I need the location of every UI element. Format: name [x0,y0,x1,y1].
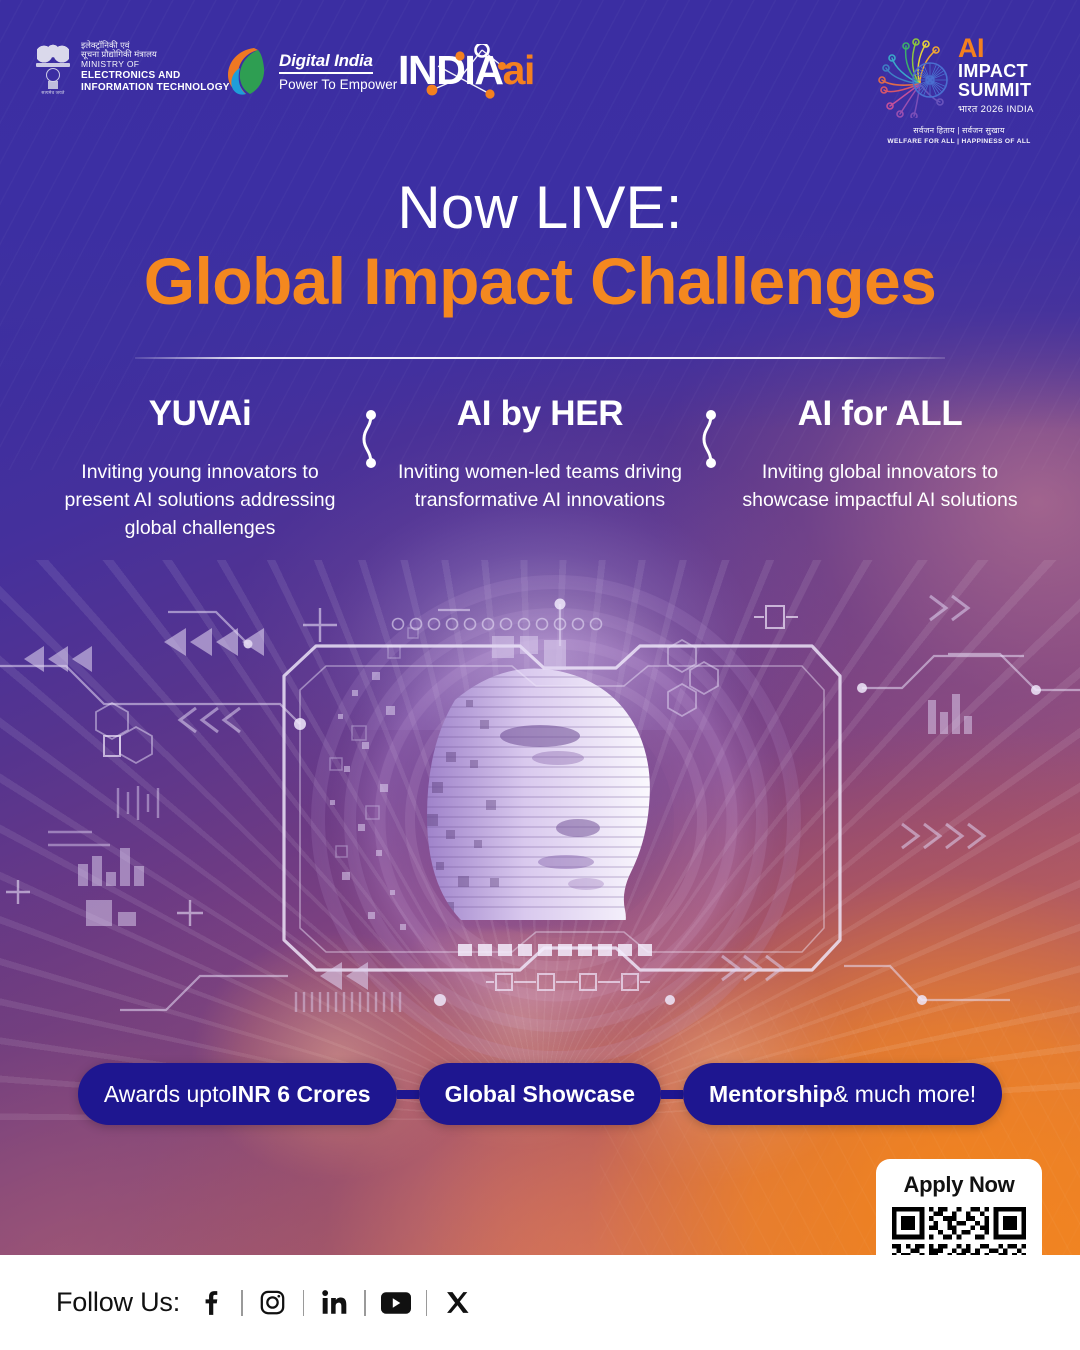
follow-us-label: Follow Us: [56,1287,180,1318]
challenges-row: YUVAi Inviting young innovators to prese… [0,395,1080,542]
meity-logo: सत्यमेव जयते इलेक्ट्रॉनिकी एवं सूचना प्र… [34,36,230,98]
header-logo-bar: सत्यमेव जयते इलेक्ट्रॉनिकी एवं सूचना प्र… [0,0,1080,170]
pill-mentorship: Mentorship & much more! [683,1063,1002,1125]
challenge-description: Inviting global innovators to showcase i… [736,458,1024,515]
challenge-column-ai-by-her: AI by HER Inviting women-led teams drivi… [390,395,690,514]
pill-strong: Mentorship [709,1081,833,1108]
summit-fan-chakra-icon [874,28,952,118]
digital-india-mark-icon [224,44,270,98]
page-title: Global Impact Challenges [0,243,1080,321]
pill-strong: Global Showcase [445,1081,635,1108]
headline-divider [135,357,945,359]
youtube-icon[interactable] [381,1288,411,1318]
brace-separator-1 [350,395,390,515]
meity-english-line-1: MINISTRY OF [81,60,230,70]
pill-connector-1 [397,1090,419,1099]
social-icons-row [196,1288,472,1318]
summit-tagline-hindi: सर्वजन हिताय | सर्वजन सुखाय [874,125,1044,136]
instagram-icon[interactable] [258,1288,288,1318]
poster-root: सत्यमेव जयते इलेक्ट्रॉनिकी एवं सूचना प्र… [0,0,1080,1350]
pill-awards: Awards upto INR 6 Crores [78,1063,397,1125]
challenge-title: AI for ALL [736,395,1024,434]
headline-eyebrow: Now LIVE: [0,176,1080,239]
summit-impact: IMPACT [958,62,1034,81]
social-separator [241,1290,243,1316]
ashoka-emblem-icon: सत्यमेव जयते [34,36,72,98]
challenge-title: YUVAi [56,395,344,434]
challenge-description: Inviting young innovators to present AI … [56,458,344,543]
pill-prefix: Awards upto [104,1081,231,1108]
pill-suffix: & much more! [833,1081,976,1108]
summit-bharat-year: भारत 2026 INDIA [958,102,1034,115]
social-separator [303,1290,305,1316]
footer-bar: Follow Us: [0,1255,1080,1350]
feature-pills-row: Awards upto INR 6 Crores Global Showcase… [0,1063,1080,1125]
indiaai-network-icon [398,44,548,104]
pill-strong: INR 6 Crores [231,1081,370,1108]
summit-ai-word: AI [958,36,1034,62]
apply-now-label: Apply Now [888,1172,1030,1198]
digital-india-title: Digital India [279,51,373,74]
challenge-column-yuvai: YUVAi Inviting young innovators to prese… [50,395,350,542]
pill-global-showcase: Global Showcase [419,1063,661,1125]
challenge-description: Inviting women-led teams driving transfo… [396,458,684,515]
digital-india-logo: Digital India Power To Empower [224,44,397,98]
ai-impact-summit-logo: AI IMPACT SUMMIT भारत 2026 INDIA सर्वजन … [874,28,1044,168]
indiaai-logo: INDIAai [398,44,548,104]
brace-separator-2 [690,395,730,515]
summit-summit: SUMMIT [958,81,1034,100]
facebook-icon[interactable] [196,1288,226,1318]
meity-english-line-3: INFORMATION TECHNOLOGY [81,82,230,94]
meity-english-line-2: ELECTRONICS AND [81,70,230,82]
challenge-column-ai-for-all: AI for ALL Inviting global innovators to… [730,395,1030,514]
x-icon[interactable] [442,1288,472,1318]
headline-block: Now LIVE: Global Impact Challenges [0,176,1080,321]
follow-us-block: Follow Us: [56,1287,472,1318]
emblem-motto: सत्यमेव जयते [34,90,72,96]
challenge-title: AI by HER [396,395,684,434]
summit-tagline-english: WELFARE FOR ALL | HAPPINESS OF ALL [874,138,1044,145]
pill-connector-2 [661,1090,683,1099]
social-separator [364,1290,366,1316]
social-separator [426,1290,428,1316]
linkedin-icon[interactable] [319,1288,349,1318]
digital-india-subtitle: Power To Empower [279,77,397,92]
